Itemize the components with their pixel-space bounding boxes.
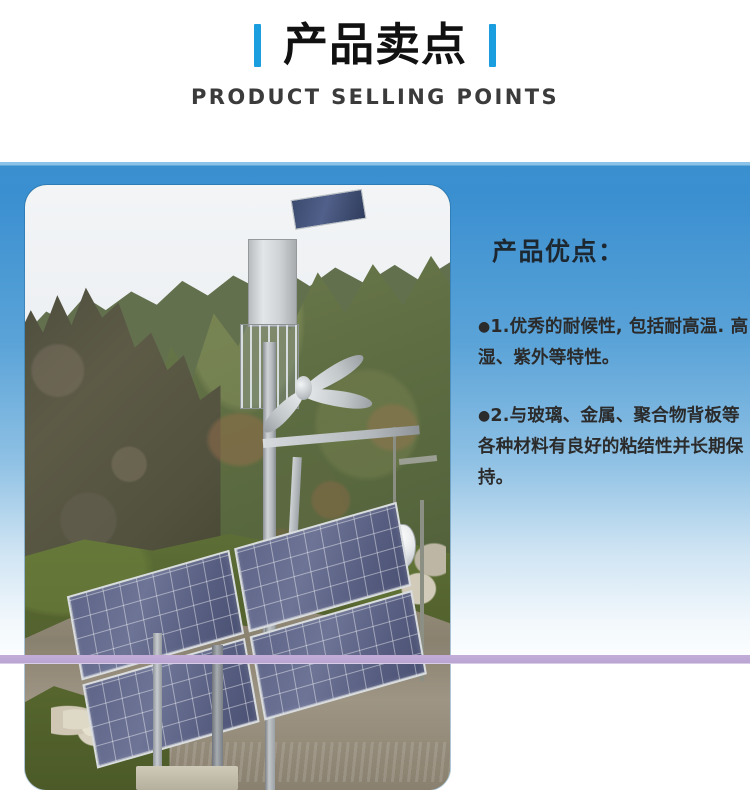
advantage-number-1: 1.	[490, 317, 509, 337]
accent-bar-left	[254, 24, 261, 67]
advantage-text-1: 优秀的耐候性, 包括耐高温. 高湿、紫外等特性。	[478, 317, 748, 368]
bullet-dot-icon: ●	[478, 319, 490, 335]
advantage-text-2: 与玻璃、金属、聚合物背板等各种材料有良好的粘结性并长期保持。	[478, 406, 744, 488]
advantage-item-2: ●2.与玻璃、金属、聚合物背板等各种材料有良好的粘结性并长期保持。	[478, 401, 750, 494]
content-panel: 产品优点： ●1.优秀的耐候性, 包括耐高温. 高湿、紫外等特性。 ●2.与玻璃…	[0, 162, 750, 655]
advantages-text-column: 产品优点： ●1.优秀的耐候性, 包括耐高温. 高湿、紫外等特性。 ●2.与玻璃…	[478, 232, 750, 494]
concrete-footing	[136, 766, 238, 790]
equipment-enclosure	[248, 239, 297, 327]
title-row: 产品卖点	[0, 14, 750, 76]
turbine-hub	[295, 376, 312, 400]
advantages-heading: 产品优点：	[478, 232, 750, 268]
page-title: 产品卖点	[283, 21, 467, 69]
section-divider	[0, 655, 750, 663]
accent-bar-right	[489, 24, 496, 67]
advantage-item-1: ●1.优秀的耐候性, 包括耐高温. 高湿、紫外等特性。	[478, 312, 750, 374]
page-header: 产品卖点 PRODUCT SELLING POINTS	[0, 0, 750, 109]
bullet-dot-icon: ●	[478, 408, 490, 424]
solar-wind-station-photo	[25, 185, 450, 790]
page-subtitle: PRODUCT SELLING POINTS	[0, 85, 750, 109]
advantage-number-2: 2.	[490, 406, 509, 426]
